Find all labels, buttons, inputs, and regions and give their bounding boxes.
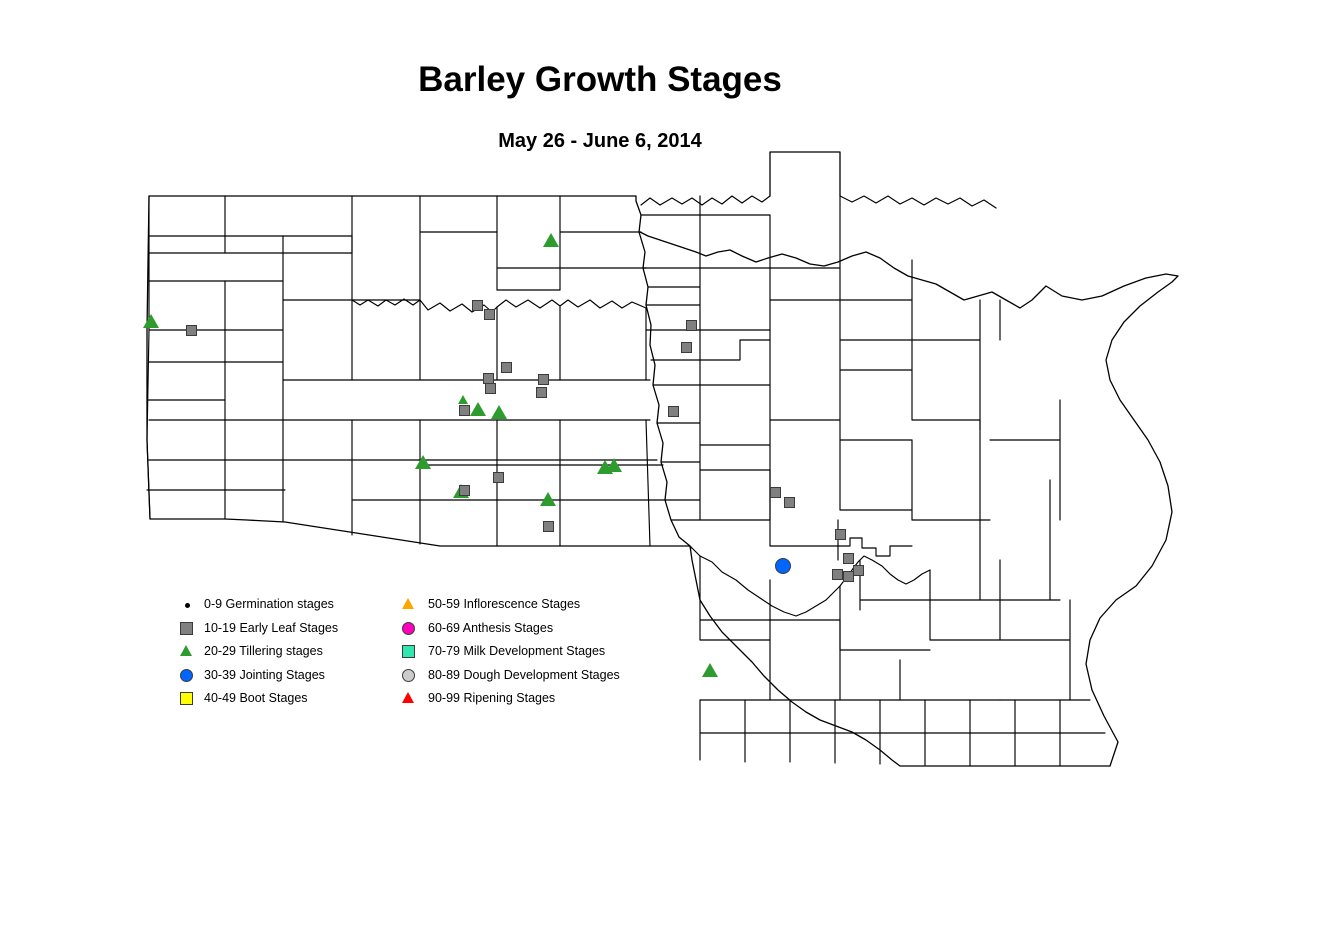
map-marker <box>702 663 718 677</box>
map-marker <box>484 309 495 320</box>
triangle-swatch-icon <box>398 688 424 712</box>
map-marker <box>668 406 679 417</box>
map-marker <box>472 300 483 311</box>
map-marker <box>459 405 470 416</box>
map-marker <box>458 395 468 404</box>
map-marker <box>775 558 791 574</box>
triangle-glyph-icon <box>180 645 192 656</box>
square-glyph-icon <box>180 622 193 635</box>
legend-label: 0-9 Germination stages <box>204 597 334 611</box>
map-marker <box>143 314 159 328</box>
map-marker <box>681 342 692 353</box>
map-marker <box>543 233 559 247</box>
map-marker <box>538 374 549 385</box>
map-marker <box>686 320 697 331</box>
map-marker <box>470 402 486 416</box>
circle-glyph-icon <box>402 622 415 635</box>
legend-label: 50-59 Inflorescence Stages <box>428 597 580 611</box>
map-marker <box>186 325 197 336</box>
triangle-swatch-icon <box>398 594 424 618</box>
legend-label: 70-79 Milk Development Stages <box>428 644 605 658</box>
map-marker <box>536 387 547 398</box>
map-marker <box>491 405 507 419</box>
square-swatch-icon <box>176 688 202 712</box>
square-glyph-icon <box>180 692 193 705</box>
square-glyph-icon <box>402 645 415 658</box>
map-marker <box>459 485 470 496</box>
map-marker <box>485 383 496 394</box>
triangle-swatch-icon <box>176 641 202 665</box>
circle-swatch-icon <box>398 665 424 689</box>
map-marker <box>784 497 795 508</box>
map-marker <box>493 472 504 483</box>
map-marker <box>843 553 854 564</box>
circle-glyph-icon <box>180 669 193 682</box>
map-marker <box>606 458 622 472</box>
circle-glyph-icon <box>402 669 415 682</box>
map-marker <box>543 521 554 532</box>
map-marker <box>835 529 846 540</box>
circle-swatch-icon <box>398 618 424 642</box>
legend-label: 30-39 Jointing Stages <box>204 668 325 682</box>
nd-outline <box>147 196 691 548</box>
triangle-glyph-icon <box>402 692 414 703</box>
legend-label: 10-19 Early Leaf Stages <box>204 621 338 635</box>
map-marker <box>770 487 781 498</box>
state-boundaries-svg <box>0 0 1341 926</box>
dot-swatch-icon <box>176 594 202 618</box>
legend: 0-9 Germination stages10-19 Early Leaf S… <box>176 594 646 720</box>
legend-label: 90-99 Ripening Stages <box>428 691 555 705</box>
square-swatch-icon <box>398 641 424 665</box>
triangle-glyph-icon <box>402 598 414 609</box>
map-marker <box>853 565 864 576</box>
dot-glyph-icon <box>185 603 190 608</box>
map-canvas <box>0 0 1341 926</box>
map-marker <box>501 362 512 373</box>
mn-outline <box>640 152 1178 766</box>
legend-label: 80-89 Dough Development Stages <box>428 668 620 682</box>
circle-swatch-icon <box>176 665 202 689</box>
map-marker <box>540 492 556 506</box>
square-swatch-icon <box>176 618 202 642</box>
legend-label: 60-69 Anthesis Stages <box>428 621 553 635</box>
legend-label: 20-29 Tillering stages <box>204 644 323 658</box>
map-marker <box>415 455 431 469</box>
legend-label: 40-49 Boot Stages <box>204 691 308 705</box>
map-marker <box>832 569 843 580</box>
